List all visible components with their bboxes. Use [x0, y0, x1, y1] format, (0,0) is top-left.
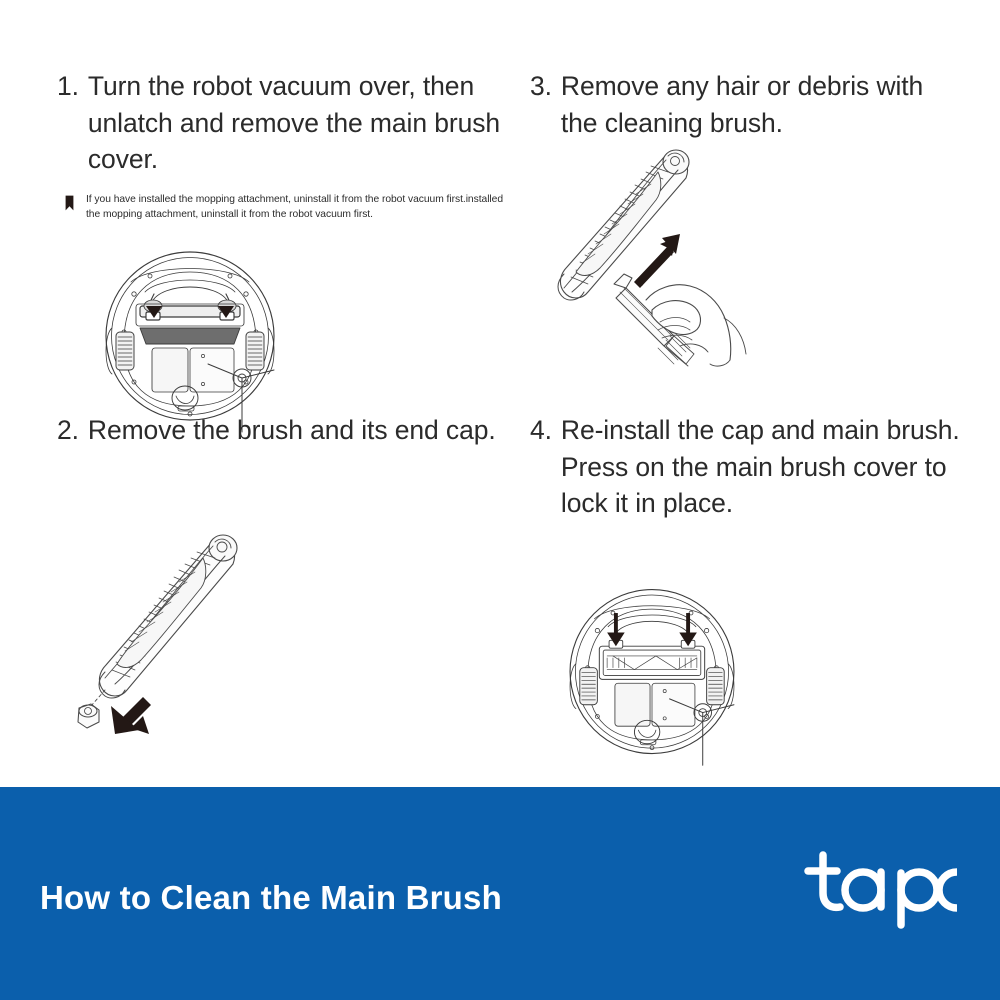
step-1-note: If you have installed the mopping attach…: [57, 192, 527, 223]
step-4: 4. Re-install the cap and main brush. Pr…: [530, 412, 960, 522]
step-1-number: 1.: [57, 68, 88, 105]
step-3-figure: [548, 140, 778, 375]
step-3: 3. Remove any hair or debris with the cl…: [530, 68, 960, 141]
tapo-logo: [797, 849, 957, 931]
step-4-number: 4.: [530, 412, 561, 449]
footer-banner: How to Clean the Main Brush: [0, 787, 1000, 1000]
step-1: 1. Turn the robot vacuum over, then unla…: [57, 68, 527, 223]
step-2: 2. Remove the brush and its end cap.: [57, 412, 497, 449]
step-1-heading: 1. Turn the robot vacuum over, then unla…: [57, 68, 527, 178]
step-1-text: Turn the robot vacuum over, then unlatch…: [88, 68, 527, 178]
step-4-heading: 4. Re-install the cap and main brush. Pr…: [530, 412, 960, 522]
step-2-number: 2.: [57, 412, 88, 449]
bookmark-icon: [65, 195, 74, 211]
step-3-text: Remove any hair or debris with the clean…: [561, 68, 960, 141]
page-title: How to Clean the Main Brush: [40, 879, 502, 917]
step-2-text: Remove the brush and its end cap.: [88, 412, 497, 449]
steps-grid: 1. Turn the robot vacuum over, then unla…: [0, 0, 1000, 787]
step-4-figure: [552, 574, 752, 779]
step-1-note-text: If you have installed the mopping attach…: [86, 192, 518, 223]
step-2-figure: [75, 522, 285, 757]
step-3-heading: 3. Remove any hair or debris with the cl…: [530, 68, 960, 141]
step-3-number: 3.: [530, 68, 561, 105]
step-4-text: Re-install the cap and main brush. Press…: [561, 412, 960, 522]
step-2-heading: 2. Remove the brush and its end cap.: [57, 412, 497, 449]
instruction-sheet: 1. Turn the robot vacuum over, then unla…: [0, 0, 1000, 1000]
